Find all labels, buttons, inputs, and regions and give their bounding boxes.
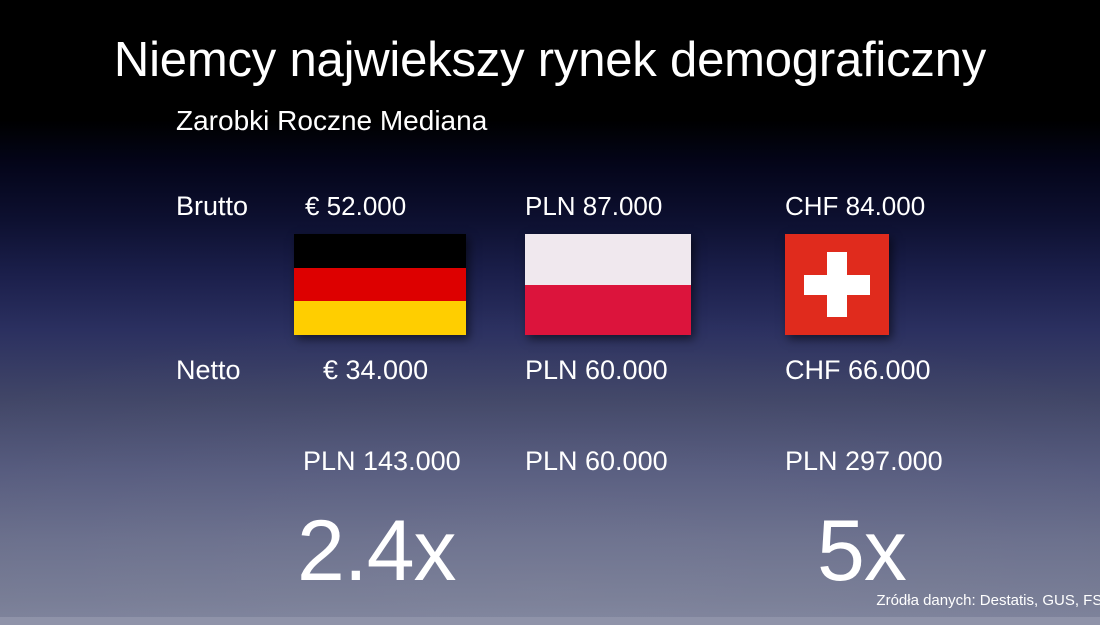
swiss-cross-horizontal — [804, 275, 871, 295]
net-value-germany: € 34.000 — [323, 354, 428, 386]
subtitle: Zarobki Roczne Mediana — [176, 104, 487, 138]
bottom-strip — [0, 617, 1100, 625]
net-pln-value-poland: PLN 60.000 — [525, 445, 668, 477]
net-value-switzerland: CHF 66.000 — [785, 354, 931, 386]
multiplier-switzerland: 5x — [817, 503, 906, 599]
flag-poland-icon — [525, 234, 691, 335]
multiplier-germany: 2.4x — [297, 503, 456, 599]
gross-value-poland: PLN 87.000 — [525, 190, 662, 222]
flag-switzerland-icon — [785, 234, 889, 335]
flag-band-gold — [294, 301, 466, 335]
page-title: Niemcy najwiekszy rynek demograficzny — [0, 30, 1100, 90]
row-label-netto: Netto — [176, 354, 241, 386]
presentation-slide: Niemcy najwiekszy rynek demograficzny Za… — [0, 0, 1100, 625]
source-note: Zródła danych: Destatis, GUS, FSO — [876, 591, 1100, 611]
flag-band-white — [525, 234, 691, 285]
row-label-brutto: Brutto — [176, 190, 248, 222]
flag-band-black — [294, 234, 466, 268]
net-pln-value-switzerland: PLN 297.000 — [785, 445, 943, 477]
gross-value-germany: € 52.000 — [305, 190, 406, 222]
flag-germany-icon — [294, 234, 466, 335]
gross-value-switzerland: CHF 84.000 — [785, 190, 925, 222]
net-value-poland: PLN 60.000 — [525, 354, 668, 386]
flag-band-crimson — [525, 285, 691, 336]
net-pln-value-germany: PLN 143.000 — [303, 445, 461, 477]
flag-band-red — [294, 268, 466, 302]
